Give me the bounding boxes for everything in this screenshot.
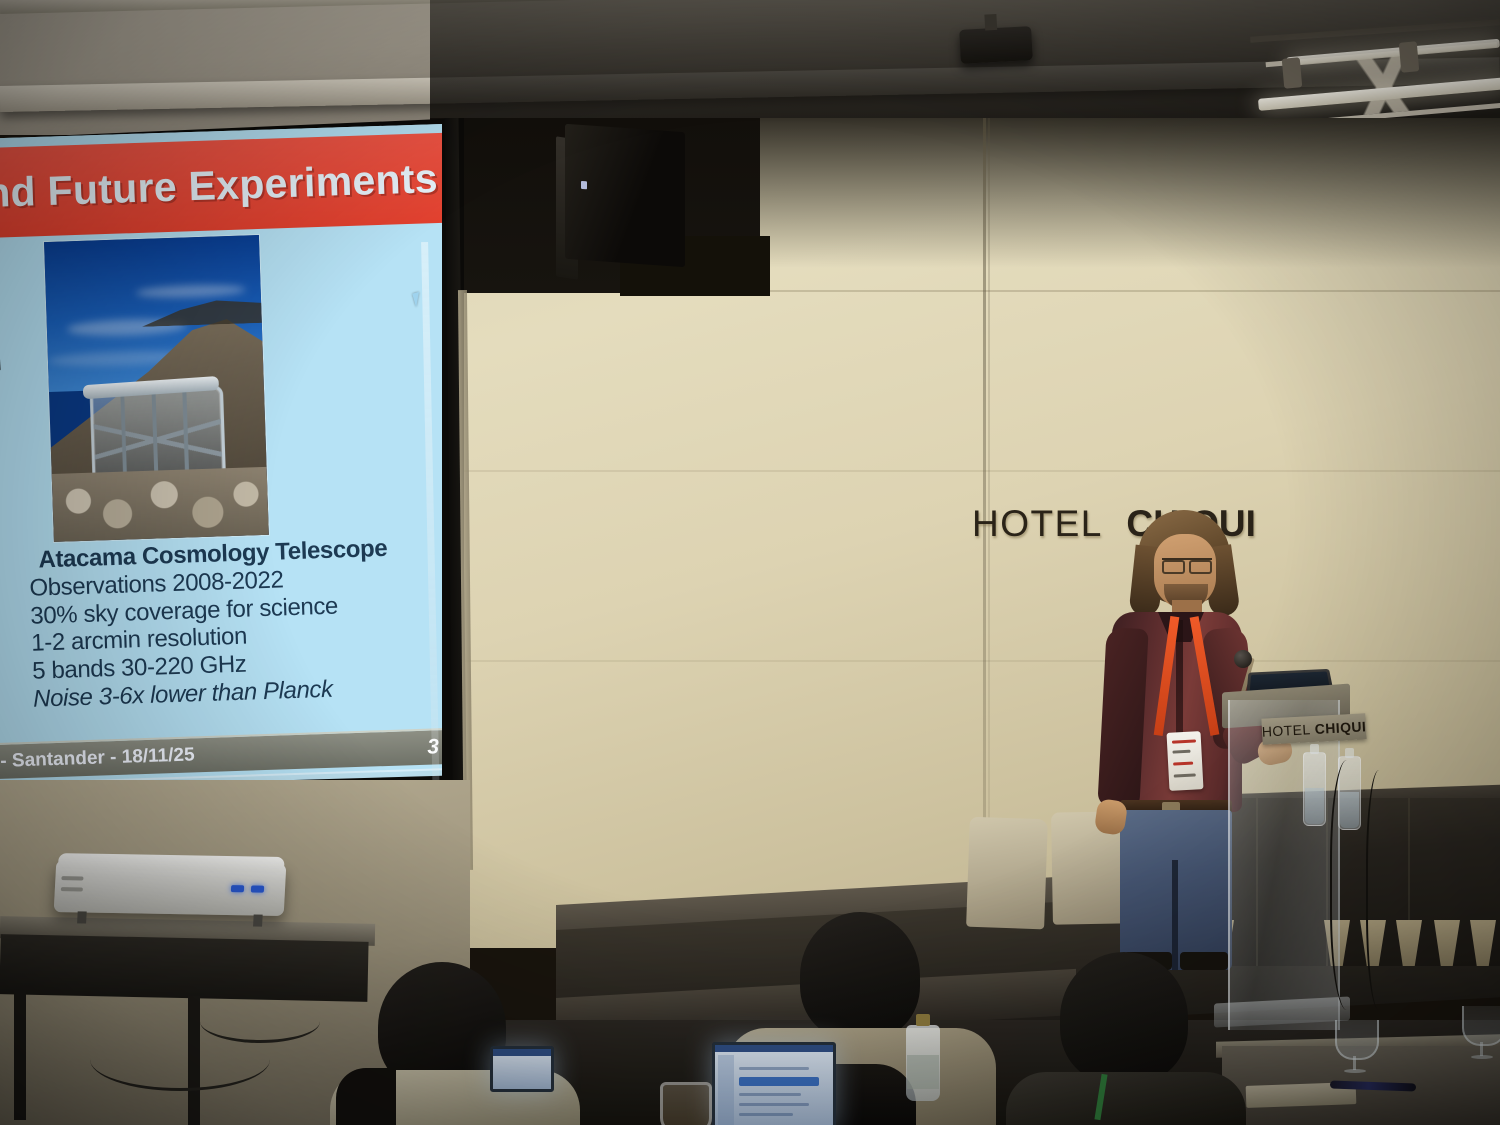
acrylic-podium bbox=[1228, 700, 1340, 1030]
audience-center-laptop-line-2 bbox=[739, 1077, 819, 1086]
projector-vent-2 bbox=[61, 887, 83, 891]
audience-right-body bbox=[1006, 1072, 1246, 1125]
audience-center-laptop-line-5 bbox=[739, 1113, 793, 1116]
projection-screen: ent, and Future Experiments bbox=[0, 118, 464, 808]
badge-line-4 bbox=[1174, 773, 1196, 777]
table-skirt-gap-5 bbox=[1434, 920, 1460, 966]
microphone-icon bbox=[1234, 650, 1252, 668]
projector-top bbox=[58, 853, 285, 873]
screen-surface: ent, and Future Experiments bbox=[0, 124, 442, 789]
wine-glass-2 bbox=[1462, 1006, 1500, 1060]
audience-center-head bbox=[800, 912, 920, 1040]
badge-line-2 bbox=[1172, 750, 1190, 754]
audience-center-laptop-titlebar bbox=[715, 1045, 833, 1052]
audience-left-laptop-titlebar bbox=[493, 1049, 551, 1056]
glasses-icon bbox=[1162, 558, 1212, 570]
audience-water-bottle bbox=[906, 1025, 940, 1101]
projector-cable-2 bbox=[90, 1028, 270, 1091]
audience-left-shoulder bbox=[336, 1068, 396, 1125]
water-bottle-1-fill bbox=[1305, 788, 1324, 824]
wine-glass-1 bbox=[1335, 1020, 1375, 1074]
podium-cable-2 bbox=[1366, 770, 1398, 1010]
water-bottle-cap bbox=[916, 1014, 930, 1026]
truss-clamp-left bbox=[1282, 57, 1303, 88]
ceiling-projector-icon bbox=[959, 26, 1033, 64]
audience-center-laptop-line-4 bbox=[739, 1103, 809, 1106]
wall-panel-line-3 bbox=[430, 660, 1500, 662]
table-skirt-gap-6 bbox=[1470, 920, 1496, 966]
truss-clamp-right bbox=[1399, 41, 1420, 72]
projector-foot-left bbox=[77, 911, 87, 923]
wine-glass-2-stem bbox=[1480, 1042, 1483, 1056]
wine-glass-2-bowl bbox=[1462, 1006, 1500, 1046]
wine-glass-2-base bbox=[1471, 1055, 1493, 1059]
audience-left-laptop bbox=[490, 1046, 554, 1092]
telescope-photo-left-shape bbox=[0, 250, 5, 458]
presenter-shoe-right bbox=[1180, 952, 1228, 970]
podium-plaque-hotel: HOTEL bbox=[1261, 721, 1310, 740]
wall-panel-line-2 bbox=[430, 470, 1500, 472]
audience-center-laptop-line-3 bbox=[739, 1093, 801, 1096]
water-bottle-label bbox=[907, 1055, 939, 1089]
projector-table-leg-left bbox=[14, 990, 26, 1120]
conference-badge bbox=[1167, 731, 1204, 791]
wine-glass-1-bowl bbox=[1335, 1020, 1379, 1060]
slide-title: ent, and Future Experiments bbox=[0, 155, 439, 221]
badge-line-3 bbox=[1173, 762, 1193, 766]
table-skirt-gap-4 bbox=[1396, 920, 1422, 966]
podium-plaque: HOTEL CHIQUI bbox=[1261, 713, 1366, 744]
projector-vent-1 bbox=[61, 876, 83, 880]
presenter-leg-gap bbox=[1172, 860, 1178, 970]
projector-led-1 bbox=[231, 885, 244, 892]
slide-footer: HTJ - Santander - 18/11/25 3 bbox=[0, 727, 442, 782]
photo-rocks bbox=[52, 467, 269, 542]
telescope-photo-left bbox=[0, 250, 5, 458]
conference-room-photo: HOTEL CHIQUI ent, and Future Experiments bbox=[0, 0, 1500, 1125]
badge-line-1 bbox=[1172, 739, 1196, 743]
loudspeaker-led bbox=[581, 181, 587, 189]
audience-center-laptop-sidebar bbox=[718, 1055, 734, 1125]
chair-1 bbox=[966, 817, 1048, 930]
slide-body: Atacama Cosmology Telescope Observations… bbox=[0, 223, 442, 742]
projector-foot-right bbox=[253, 914, 263, 926]
podium-plaque-chiqui: CHIQUI bbox=[1314, 718, 1366, 737]
audience-right-head bbox=[1060, 952, 1188, 1084]
slide: ent, and Future Experiments bbox=[0, 124, 442, 789]
water-bottle-1 bbox=[1303, 752, 1326, 826]
audience-center-laptop-line-1 bbox=[739, 1067, 809, 1070]
projector-icon bbox=[54, 860, 287, 916]
atacama-telescope-photo bbox=[44, 235, 269, 542]
projector-led-2 bbox=[251, 885, 264, 892]
slide-footer-text: HTJ - Santander - 18/11/25 bbox=[0, 744, 195, 774]
loudspeaker-icon bbox=[565, 124, 685, 267]
projector-table-body bbox=[0, 934, 369, 1002]
audience-drinking-glass bbox=[660, 1082, 712, 1125]
wine-glass-1-stem bbox=[1353, 1056, 1356, 1070]
wine-glass-1-base bbox=[1344, 1069, 1366, 1073]
audience-center-laptop bbox=[712, 1042, 836, 1125]
slide-caption-block: Atacama Cosmology Telescope Observations… bbox=[28, 533, 442, 714]
